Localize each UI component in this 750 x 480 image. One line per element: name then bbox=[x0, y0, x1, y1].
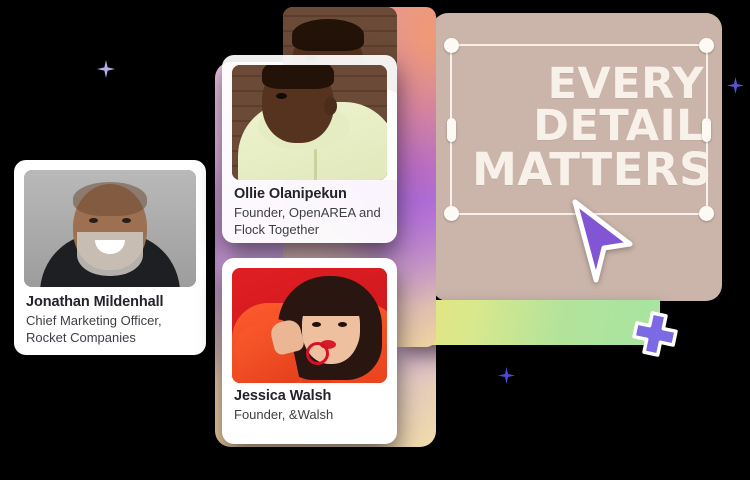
resize-handle-top-left[interactable] bbox=[444, 38, 459, 53]
speaker-role-line-2: Flock Together bbox=[234, 222, 387, 239]
plus-cross-icon bbox=[627, 306, 684, 363]
resize-handle-middle-left[interactable] bbox=[447, 118, 456, 142]
speaker-name: Ollie Olanipekun bbox=[234, 186, 387, 203]
ollie-portrait-image bbox=[232, 65, 387, 180]
resize-handle-top-right[interactable] bbox=[699, 38, 714, 53]
arrow-pointer-icon bbox=[570, 196, 640, 288]
speaker-role-line-1: Founder, &Walsh bbox=[234, 407, 387, 424]
sparkle-icon bbox=[498, 367, 515, 384]
jonathan-portrait-image bbox=[24, 170, 196, 287]
jessica-portrait-image bbox=[232, 268, 387, 383]
speaker-name: Jonathan Mildenhall bbox=[26, 294, 196, 311]
speaker-card-jessica[interactable]: Jessica Walsh Founder, &Walsh bbox=[222, 258, 397, 444]
sparkle-icon bbox=[97, 60, 115, 78]
speaker-role-line-2: Rocket Companies bbox=[26, 330, 196, 347]
speaker-card-ollie[interactable]: Ollie Olanipekun Founder, OpenAREA and F… bbox=[222, 55, 397, 243]
speaker-name: Jessica Walsh bbox=[234, 388, 387, 405]
speaker-card-jonathan[interactable]: Jonathan Mildenhall Chief Marketing Offi… bbox=[14, 160, 206, 355]
speaker-role-line-1: Founder, OpenAREA and bbox=[234, 205, 387, 222]
resize-handle-middle-right[interactable] bbox=[702, 118, 711, 142]
speaker-role-line-1: Chief Marketing Officer, bbox=[26, 313, 196, 330]
speaker-meta: Ollie Olanipekun Founder, OpenAREA and F… bbox=[234, 186, 387, 239]
speaker-meta: Jonathan Mildenhall Chief Marketing Offi… bbox=[26, 294, 196, 347]
speaker-meta: Jessica Walsh Founder, &Walsh bbox=[234, 388, 387, 424]
resize-handle-bottom-right[interactable] bbox=[699, 206, 714, 221]
selection-bounding-box[interactable] bbox=[450, 44, 708, 215]
resize-handle-bottom-left[interactable] bbox=[444, 206, 459, 221]
speaker-photo bbox=[232, 268, 387, 383]
sparkle-icon bbox=[727, 77, 744, 94]
speaker-photo bbox=[232, 65, 387, 180]
composition-stage: EVERY DETAIL MATTERS bbox=[0, 0, 750, 480]
accent-gradient-strip bbox=[400, 300, 660, 345]
speaker-photo bbox=[24, 170, 196, 287]
